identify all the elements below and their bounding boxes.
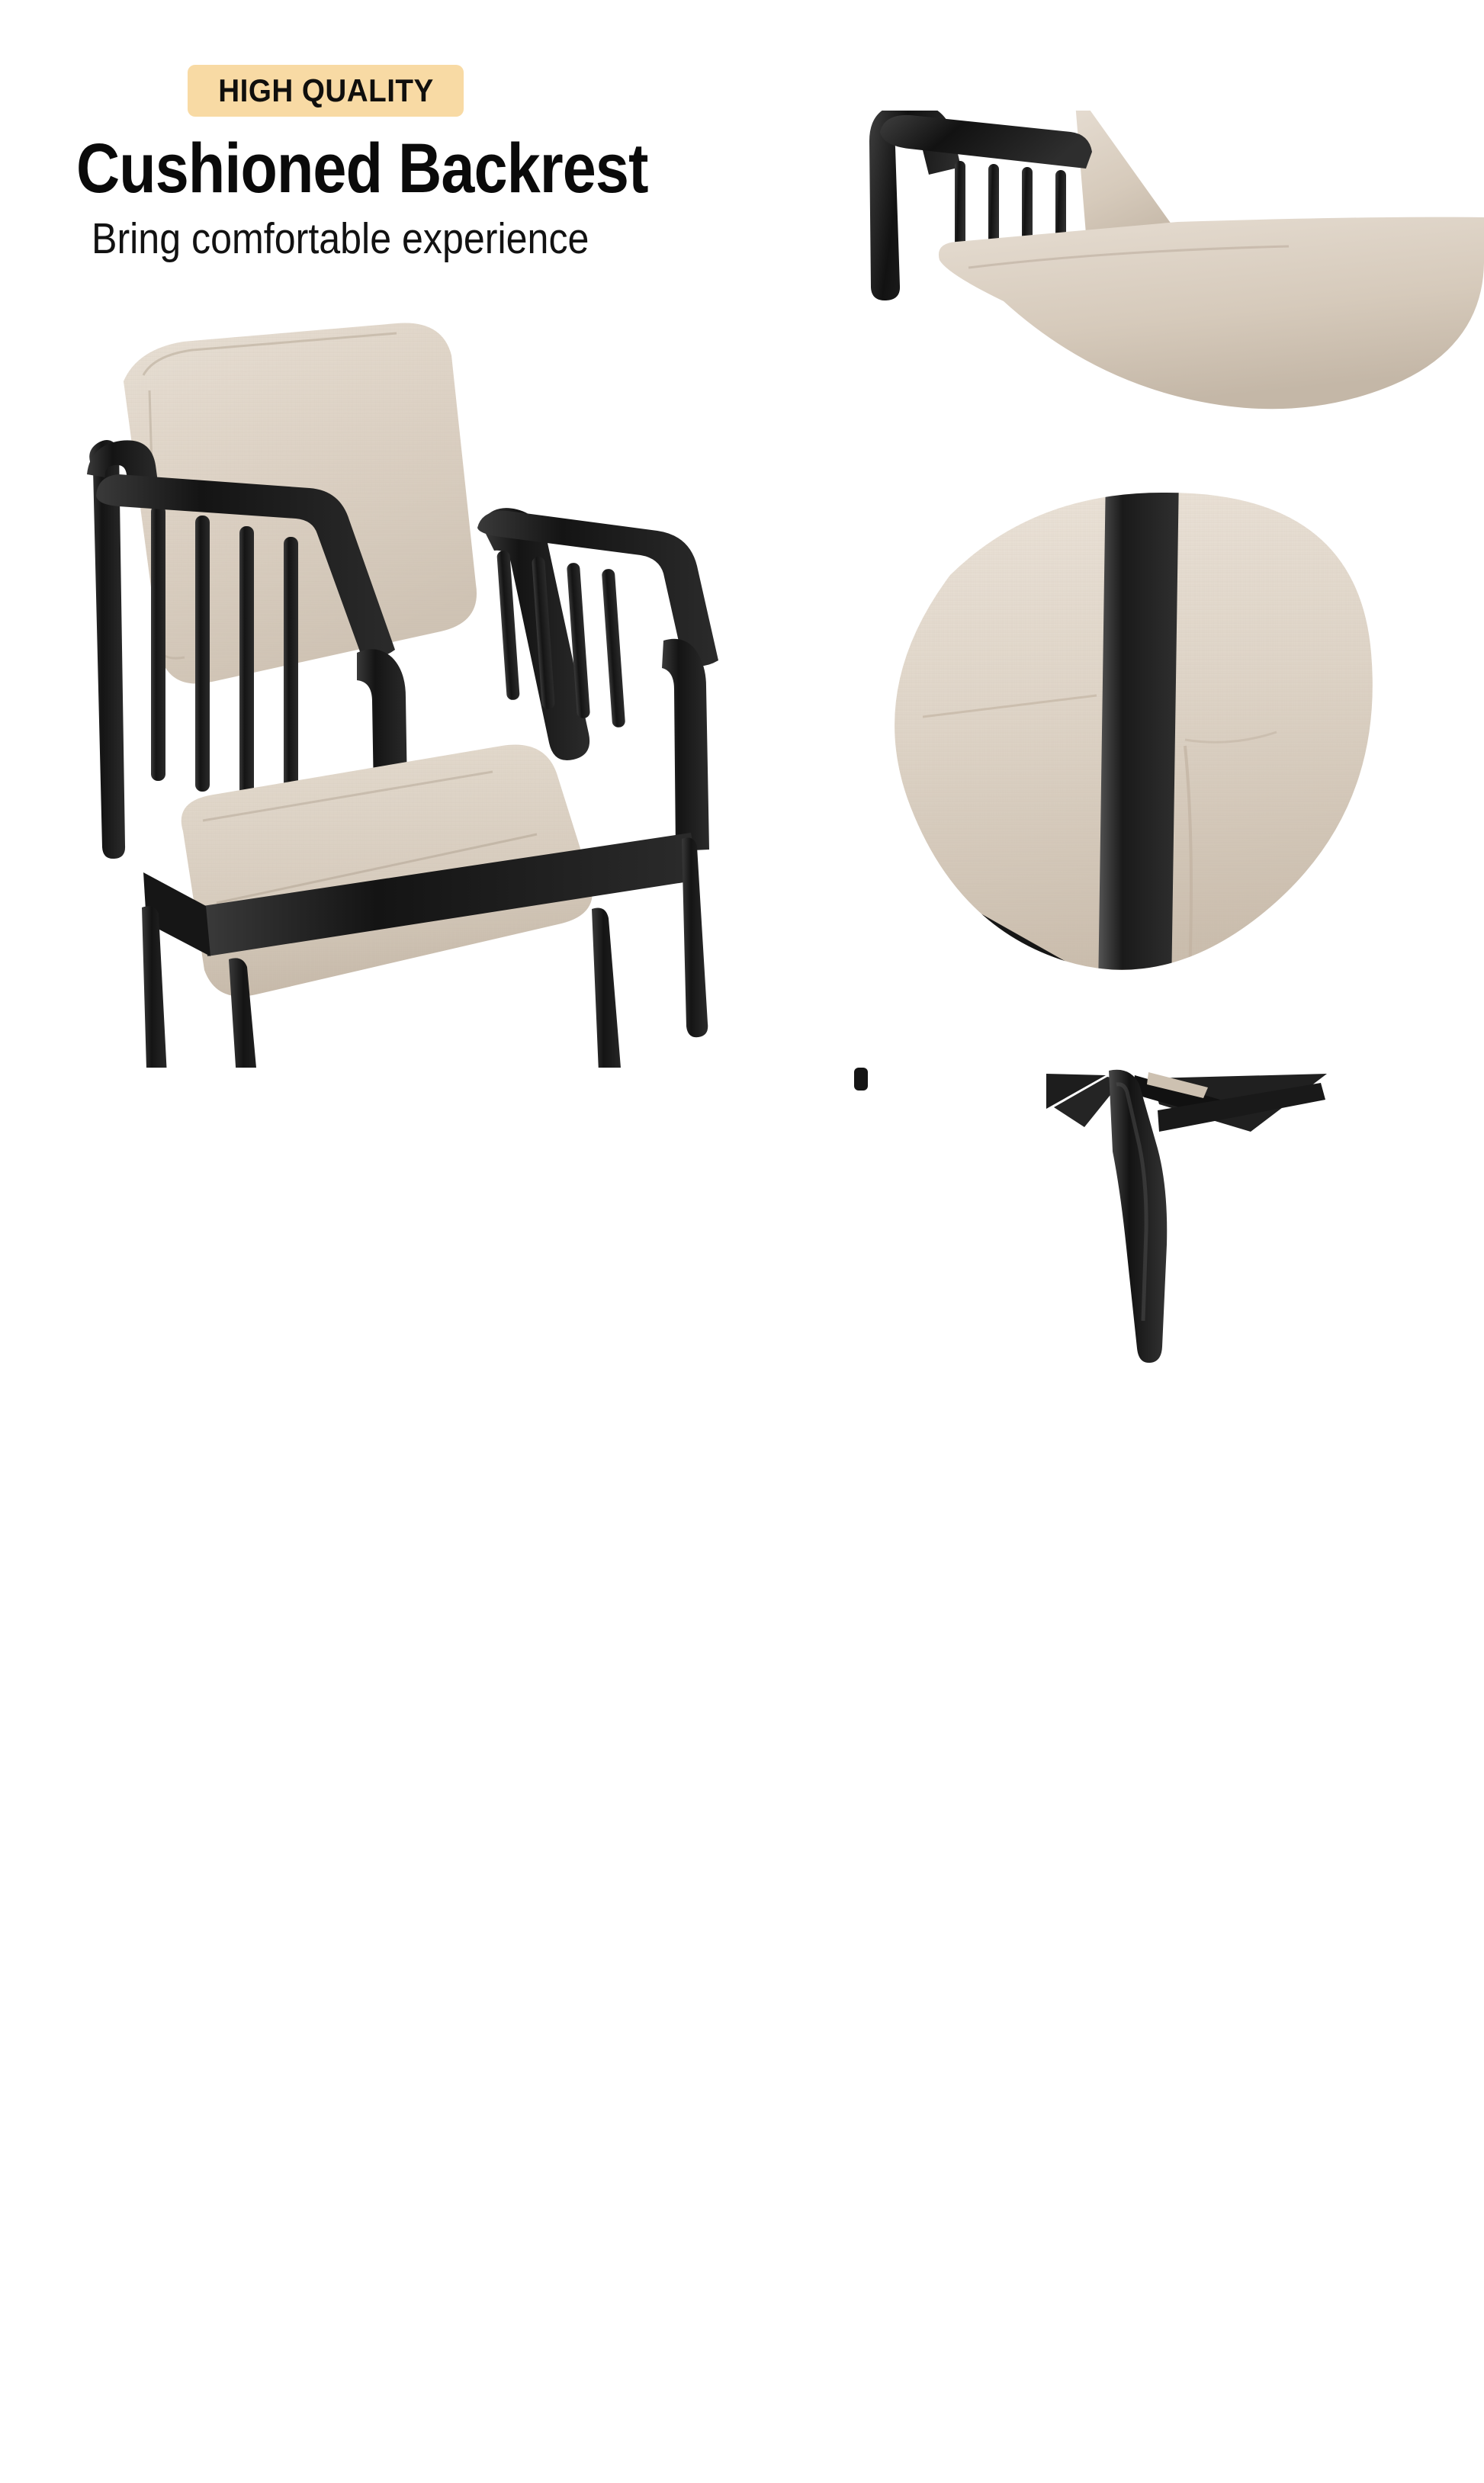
detail3-edge-fragment: [854, 1068, 868, 1091]
chair-leg-back-right: [682, 837, 708, 1037]
high-quality-badge: HIGH QUALITY: [188, 65, 464, 117]
chair-leg-front-right: [592, 908, 625, 1068]
detail1-seat-cushion: [939, 217, 1484, 410]
detail-tapered-legs: Tapered round tubular legs: [854, 1068, 1484, 1373]
hero-chair-image: [53, 305, 740, 1068]
detail-sunbrella-fabric: Sunbrella fabric: [877, 488, 1457, 976]
page-subtitle: Bring comfortable experience: [92, 217, 589, 261]
detail2-oval-crop: [877, 488, 1457, 976]
infographic-page: HIGH QUALITY Cushioned Backrest Bring co…: [0, 0, 1484, 1484]
badge-label: HIGH QUALITY: [218, 72, 433, 109]
detail2-frame-post: [1098, 488, 1179, 976]
detail1-arm-rail: [880, 115, 1092, 169]
page-title: Cushioned Backrest: [76, 133, 648, 204]
chair-right-arm-front: [662, 639, 709, 851]
detail-streamlined-frame: Streamlined frame design: [854, 111, 1484, 438]
